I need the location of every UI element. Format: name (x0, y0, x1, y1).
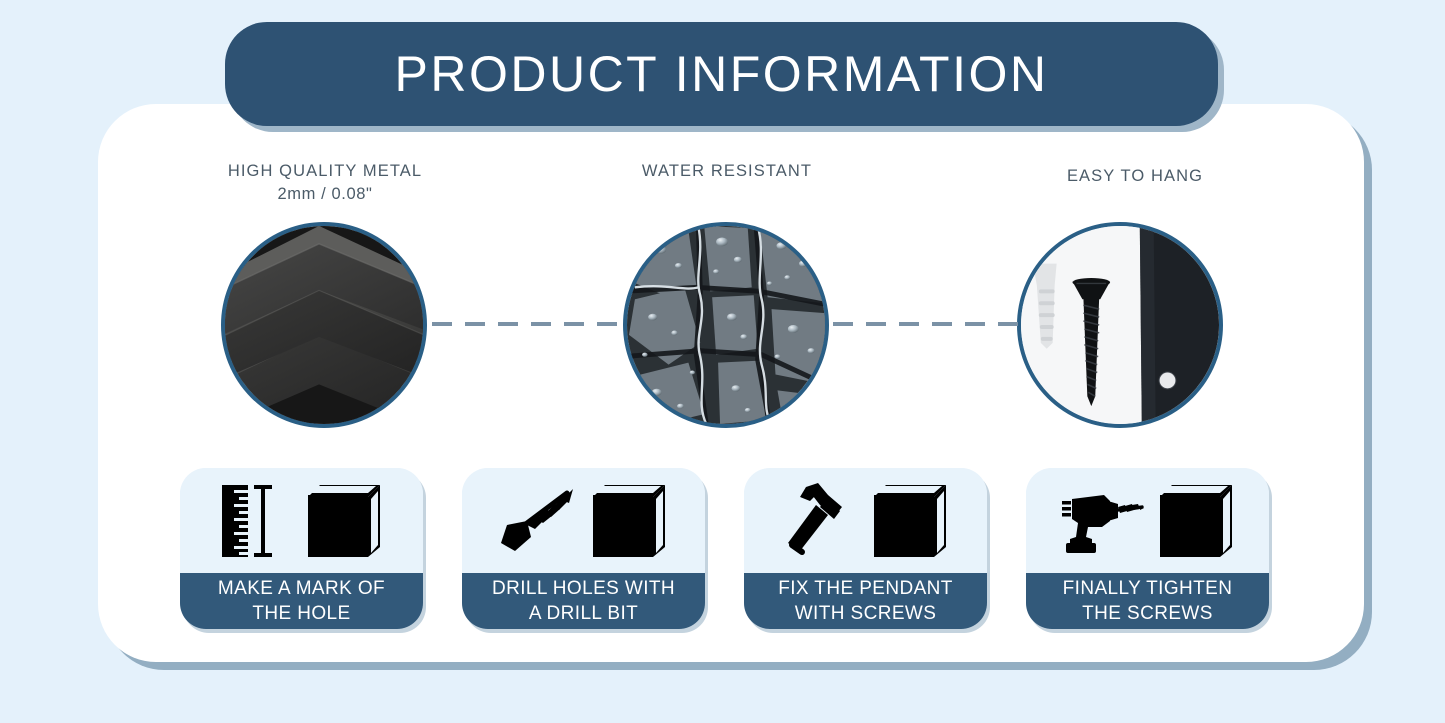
step-icon-group (462, 468, 705, 573)
step-icon-group (744, 468, 987, 573)
metal-sheets-icon (225, 226, 423, 424)
step-label: FIX THE PENDANT WITH SCREWS (744, 573, 987, 629)
feature-label: EASY TO HANG (985, 165, 1285, 188)
water-droplets-photo (623, 222, 829, 428)
panel-box-icon (866, 481, 952, 561)
feature-sublabel: 2mm / 0.08" (175, 183, 475, 206)
power-drill-icon (1058, 481, 1144, 561)
panel-box-icon (585, 481, 671, 561)
panel-box-icon (1152, 481, 1238, 561)
feature-high-quality-metal: HIGH QUALITY METAL 2mm / 0.08" (175, 160, 475, 206)
screw-icon (1021, 226, 1219, 424)
ruler-icon (218, 481, 292, 561)
step-icon-group (180, 468, 423, 573)
step-card-fix-the-pendant[interactable]: FIX THE PENDANT WITH SCREWS (744, 468, 987, 629)
feature-label: HIGH QUALITY METAL (175, 160, 475, 183)
feature-label: WATER RESISTANT (577, 160, 877, 183)
step-card-finally-tighten[interactable]: FINALLY TIGHTEN THE SCREWS (1026, 468, 1269, 629)
feature-water-resistant: WATER RESISTANT (577, 160, 877, 183)
step-card-make-a-mark[interactable]: MAKE A MARK OF THE HOLE (180, 468, 423, 629)
feature-connector-line (833, 322, 1019, 326)
feature-connector-line (432, 322, 622, 326)
step-label: FINALLY TIGHTEN THE SCREWS (1026, 573, 1269, 629)
screw-and-panel-photo (1017, 222, 1223, 428)
metal-sheets-photo (221, 222, 427, 428)
step-icon-group (1026, 468, 1269, 573)
step-card-drill-holes[interactable]: DRILL HOLES WITH A DRILL BIT (462, 468, 705, 629)
drill-bit-icon (497, 481, 577, 561)
header-banner: PRODUCT INFORMATION (225, 22, 1218, 126)
feature-easy-to-hang: EASY TO HANG (985, 165, 1285, 188)
hammer-icon (780, 481, 858, 561)
step-label: DRILL HOLES WITH A DRILL BIT (462, 573, 705, 629)
page-title: PRODUCT INFORMATION (395, 45, 1049, 103)
panel-box-icon (300, 481, 386, 561)
water-droplets-icon (627, 226, 825, 424)
step-label: MAKE A MARK OF THE HOLE (180, 573, 423, 629)
